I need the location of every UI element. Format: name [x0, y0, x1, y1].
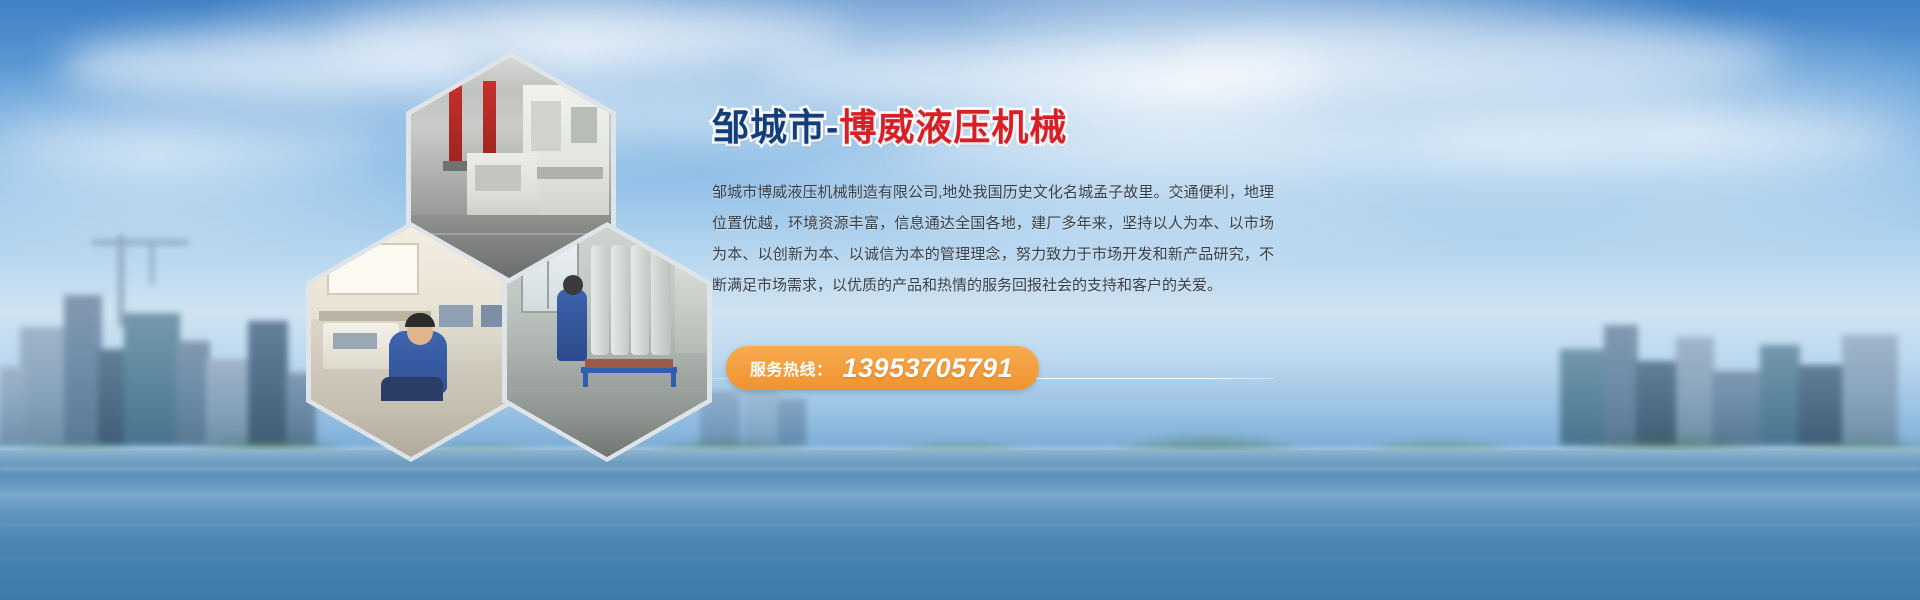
hex-photo-cluster	[300, 52, 700, 452]
company-banner: 邹城市-博威液压机械 邹城市博威液压机械制造有限公司,地处我国历史文化名城孟子故…	[0, 0, 1920, 600]
title-brand: 博威液压机械	[839, 107, 1067, 148]
company-description-text: 邹城市博威液压机械制造有限公司,地处我国历史文化名城孟子故里。交通便利，地理位置…	[712, 177, 1274, 301]
title-prefix: 邹城市-	[712, 107, 839, 148]
page-title: 邹城市-博威液压机械	[712, 108, 1282, 149]
hotline-label: 服务热线：	[750, 356, 833, 380]
hotline-button[interactable]: 服务热线： 13953705791	[726, 346, 1039, 390]
banner-text-panel: 邹城市-博威液压机械 邹城市博威液压机械制造有限公司,地处我国历史文化名城孟子故…	[712, 108, 1282, 301]
cloud-shape	[1180, 18, 1780, 98]
company-description: 邹城市博威液压机械制造有限公司,地处我国历史文化名城孟子故里。交通便利，地理位置…	[712, 177, 1274, 301]
hotline-number: 13953705791	[843, 353, 1014, 384]
water-surface	[0, 450, 1920, 600]
